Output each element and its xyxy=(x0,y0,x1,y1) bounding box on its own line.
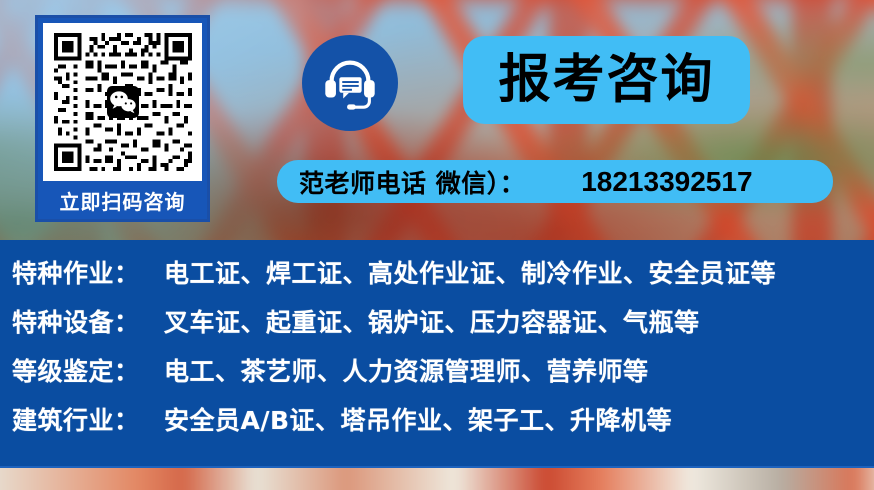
wechat-icon xyxy=(107,86,139,118)
promo-poster: 立即扫码咨询 报考咨询 范老师电话 微信）： 18213392517 xyxy=(0,0,874,490)
bottom-strip-background xyxy=(0,468,874,490)
contact-label: 范老师电话 微信）： xyxy=(299,164,525,200)
category-row: 建筑行业： 安全员A/B证、塔吊作业、架子工、升降机等 xyxy=(12,401,862,450)
consult-badge[interactable]: 报考咨询 xyxy=(463,36,750,124)
qr-code-image[interactable] xyxy=(50,29,196,175)
category-row: 特种作业： 电工证、焊工证、高处作业证、制冷作业、安全员证等 xyxy=(12,254,862,303)
consult-badge-label: 报考咨询 xyxy=(498,54,714,106)
qr-card-caption: 立即扫码咨询 xyxy=(43,181,202,219)
category-row: 特种设备： 叉车证、起重证、锅炉证、压力容器证、气瓶等 xyxy=(12,303,862,352)
customer-support-badge[interactable] xyxy=(302,35,398,131)
category-items: 叉车证、起重证、锅炉证、压力容器证、气瓶等 xyxy=(164,303,700,339)
category-label: 特种设备： xyxy=(12,303,164,339)
headset-support-icon xyxy=(319,52,381,114)
qr-code-card[interactable]: 立即扫码咨询 xyxy=(35,15,210,222)
contact-pill[interactable]: 范老师电话 微信）： 18213392517 xyxy=(277,160,833,203)
category-label: 特种作业： xyxy=(12,254,164,290)
bottom-photo-strip xyxy=(0,468,874,490)
qr-code-surface xyxy=(43,23,202,181)
category-label: 等级鉴定： xyxy=(12,352,164,388)
category-items: 电工、茶艺师、人力资源管理师、营养师等 xyxy=(164,352,649,388)
category-items: 电工证、焊工证、高处作业证、制冷作业、安全员证等 xyxy=(164,254,776,290)
category-label: 建筑行业： xyxy=(12,401,164,437)
contact-phone-number[interactable]: 18213392517 xyxy=(581,166,752,198)
category-list-panel: 特种作业： 电工证、焊工证、高处作业证、制冷作业、安全员证等 特种设备： 叉车证… xyxy=(0,240,874,468)
category-row: 等级鉴定： 电工、茶艺师、人力资源管理师、营养师等 xyxy=(12,352,862,401)
category-items: 安全员A/B证、塔吊作业、架子工、升降机等 xyxy=(164,401,672,437)
